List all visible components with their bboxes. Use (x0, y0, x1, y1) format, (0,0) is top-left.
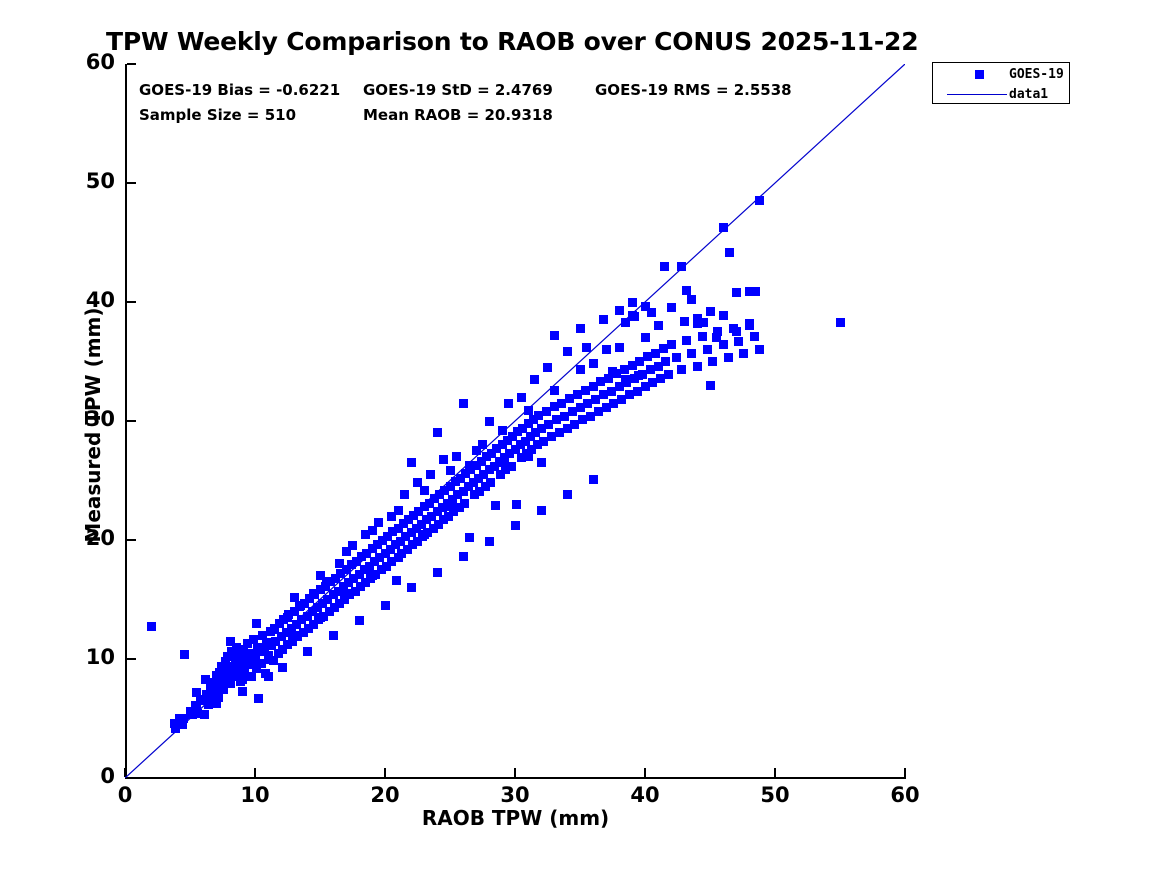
scatter-point (244, 655, 253, 664)
scatter-point (335, 559, 344, 568)
scatter-point (751, 287, 760, 296)
scatter-point (732, 288, 741, 297)
legend-label-data1: data1 (1009, 87, 1048, 102)
scatter-point (247, 672, 256, 681)
stat-bias: GOES-19 Bias = -0.6221 (139, 81, 340, 99)
y-axis-label: Measured TPW (mm) (81, 68, 105, 782)
scatter-point (550, 386, 559, 395)
scatter-point (270, 625, 279, 634)
scatter-point (254, 694, 263, 703)
x-tick-label: 30 (485, 783, 545, 807)
scatter-point (732, 327, 741, 336)
scatter-point (706, 381, 715, 390)
scatter-point (664, 370, 673, 379)
scatter-point (504, 399, 513, 408)
scatter-point (602, 345, 611, 354)
scatter-point (719, 223, 728, 232)
scatter-point (661, 357, 670, 366)
scatter-point (478, 440, 487, 449)
scatter-point (712, 333, 721, 342)
scatter-point (512, 500, 521, 509)
scatter-point (576, 324, 585, 333)
scatter-point (460, 499, 469, 508)
scatter-point (264, 672, 273, 681)
scatter-point (329, 631, 338, 640)
scatter-point (283, 613, 292, 622)
scatter-point (724, 353, 733, 362)
scatter-point (407, 458, 416, 467)
scatter-point (252, 619, 261, 628)
scatter-point (739, 349, 748, 358)
scatter-point (530, 375, 539, 384)
scatter-point (446, 502, 455, 511)
scatter-point (446, 466, 455, 475)
x-tick-label: 10 (225, 783, 285, 807)
scatter-point (537, 458, 546, 467)
x-axis-label: RAOB TPW (mm) (125, 806, 906, 830)
scatter-point (615, 306, 624, 315)
scatter-point (524, 452, 533, 461)
scatter-point (615, 343, 624, 352)
scatter-point (582, 343, 591, 352)
scatter-point (278, 663, 287, 672)
scatter-point (543, 363, 552, 372)
scatter-point (755, 345, 764, 354)
legend-line-icon (947, 94, 1007, 95)
scatter-point (621, 375, 630, 384)
scatter-point (563, 490, 572, 499)
scatter-point (680, 317, 689, 326)
scatter-point (257, 643, 266, 652)
scatter-point (316, 613, 325, 622)
stat-sample-size: Sample Size = 510 (139, 106, 296, 124)
scatter-point (368, 571, 377, 580)
scatter-point (693, 362, 702, 371)
scatter-point (498, 426, 507, 435)
scatter-point (374, 518, 383, 527)
scatter-point (201, 675, 210, 684)
scatter-point (238, 687, 247, 696)
legend-entry-goes19[interactable]: GOES-19 (933, 64, 1069, 84)
scatter-point (400, 490, 409, 499)
scatter-point (550, 331, 559, 340)
scatter-point (641, 333, 650, 342)
scatter-point (348, 541, 357, 550)
stat-rms: GOES-19 RMS = 2.5538 (595, 81, 792, 99)
scatter-point (179, 714, 188, 723)
scatter-point (677, 262, 686, 271)
scatter-point (147, 622, 156, 631)
scatter-point (511, 521, 520, 530)
scatter-point (361, 530, 370, 539)
legend-square-marker-icon (975, 70, 984, 79)
scatter-point (699, 318, 708, 327)
legend-entry-data1[interactable]: data1 (933, 84, 1069, 104)
chart-title: TPW Weekly Comparison to RAOB over CONUS… (106, 27, 936, 56)
scatter-point (687, 349, 696, 358)
plot-area (125, 64, 905, 778)
scatter-point (734, 337, 743, 346)
scatter-point (452, 452, 461, 461)
scatter-point (296, 601, 305, 610)
scatter-point (745, 321, 754, 330)
scatter-point (524, 406, 533, 415)
scatter-point (218, 678, 227, 687)
chart-legend[interactable]: GOES-19 data1 (932, 62, 1070, 104)
scatter-point (687, 295, 696, 304)
scatter-point (226, 637, 235, 646)
scatter-point (485, 417, 494, 426)
scatter-point (698, 332, 707, 341)
scatter-point (537, 506, 546, 515)
scatter-point (465, 533, 474, 542)
scatter-point (647, 308, 656, 317)
scatter-point (309, 589, 318, 598)
legend-label-goes19: GOES-19 (1009, 67, 1064, 82)
scatter-point (180, 650, 189, 659)
scatter-point (394, 553, 403, 562)
scatter-point (387, 512, 396, 521)
scatter-point (667, 303, 676, 312)
scatter-point (322, 577, 331, 586)
scatter-point (192, 702, 201, 711)
scatter-point (563, 347, 572, 356)
x-tick-label: 40 (615, 783, 675, 807)
scatter-point (498, 458, 507, 467)
scatter-point (426, 470, 435, 479)
scatter-point (459, 552, 468, 561)
chart-figure: TPW Weekly Comparison to RAOB over CONUS… (0, 0, 1167, 875)
scatter-point (589, 475, 598, 484)
scatter-point (290, 631, 299, 640)
scatter-point (507, 462, 516, 471)
scatter-point (486, 478, 495, 487)
scatter-point (576, 365, 585, 374)
scatter-point (634, 371, 643, 380)
scatter-point (667, 340, 676, 349)
scatter-point (708, 357, 717, 366)
scatter-point (836, 318, 845, 327)
scatter-point (381, 601, 390, 610)
scatter-point (342, 589, 351, 598)
scatter-point (682, 286, 691, 295)
x-tick-label: 50 (745, 783, 805, 807)
scatter-point (192, 688, 201, 697)
scatter-point (682, 336, 691, 345)
scatter-point (621, 318, 630, 327)
scatter-point (599, 315, 608, 324)
scatter-point (628, 298, 637, 307)
scatter-point (755, 196, 764, 205)
scatter-point (706, 307, 715, 316)
scatter-point (413, 478, 422, 487)
scatter-point (459, 399, 468, 408)
scatter-point (433, 428, 442, 437)
scatter-point (630, 312, 639, 321)
scatter-point (672, 353, 681, 362)
scatter-point (750, 332, 759, 341)
scatter-point (719, 311, 728, 320)
scatter-point (465, 461, 474, 470)
scatter-point (238, 675, 247, 684)
scatter-point (433, 568, 442, 577)
scatter-point (703, 345, 712, 354)
scatter-point (303, 647, 312, 656)
scatter-point (485, 537, 494, 546)
stat-mean-raob: Mean RAOB = 20.9318 (363, 106, 553, 124)
stat-std: GOES-19 StD = 2.4769 (363, 81, 553, 99)
x-tick-label: 20 (355, 783, 415, 807)
scatter-point (264, 655, 273, 664)
scatter-point (660, 262, 669, 271)
scatter-point (517, 393, 526, 402)
scatter-point (725, 248, 734, 257)
scatter-point (439, 455, 448, 464)
scatter-point (654, 321, 663, 330)
scatter-point (608, 367, 617, 376)
scatter-point (212, 696, 221, 705)
scatter-point (407, 583, 416, 592)
scatter-point (589, 359, 598, 368)
x-tick-label: 60 (875, 783, 935, 807)
scatter-point (392, 576, 401, 585)
scatter-point (677, 365, 686, 374)
scatter-point (420, 530, 429, 539)
scatter-point (200, 710, 209, 719)
scatter-point (491, 501, 500, 510)
scatter-point (355, 616, 364, 625)
scatter-markers (125, 64, 905, 778)
